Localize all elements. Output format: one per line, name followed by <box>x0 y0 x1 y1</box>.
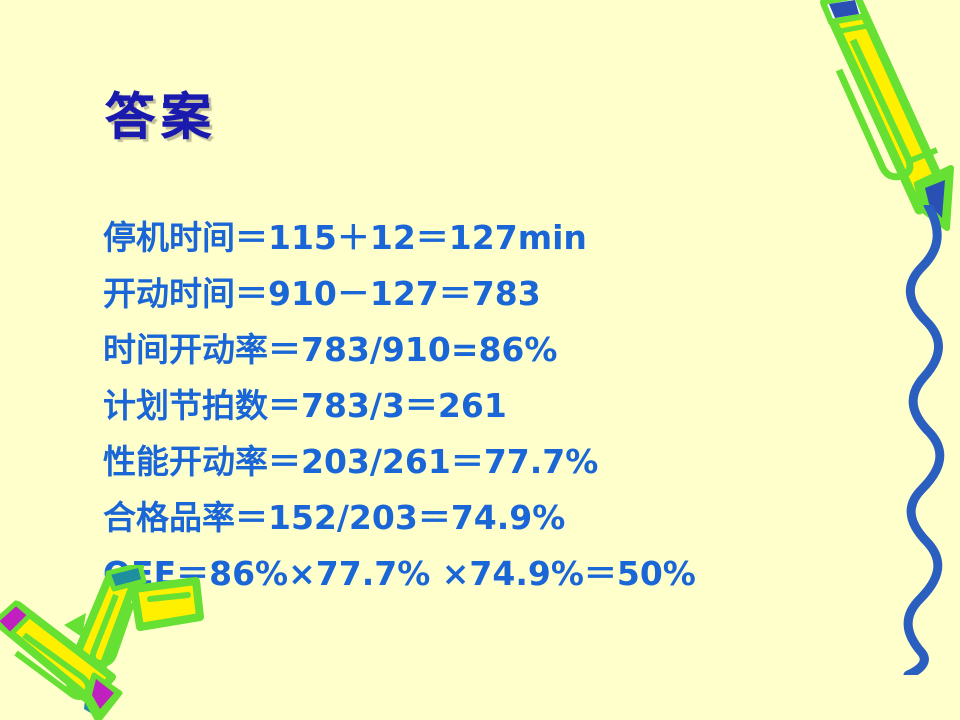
answer-line-list: 停机时间＝115＋12＝127min 开动时间＝910－127＝783 时间开动… <box>103 210 863 602</box>
page-title: 答案 <box>105 92 217 142</box>
answer-line: 停机时间＝115＋12＝127min <box>103 210 863 266</box>
crayon-icon <box>795 0 960 236</box>
wavy-line-icon <box>878 205 960 675</box>
answer-line: 开动时间＝910－127＝783 <box>103 266 863 322</box>
answer-line: 合格品率＝152/203＝74.9% <box>103 490 863 546</box>
answer-line: 性能开动率＝203/261＝77.7% <box>103 434 863 490</box>
answer-line: OEE＝86%×77.7% ×74.9%＝50% <box>103 546 863 602</box>
answer-line: 时间开动率＝783/910=86% <box>103 322 863 378</box>
answer-line: 计划节拍数＝783/3＝261 <box>103 378 863 434</box>
slide-canvas: 答案 停机时间＝115＋12＝127min 开动时间＝910－127＝783 时… <box>0 0 960 720</box>
